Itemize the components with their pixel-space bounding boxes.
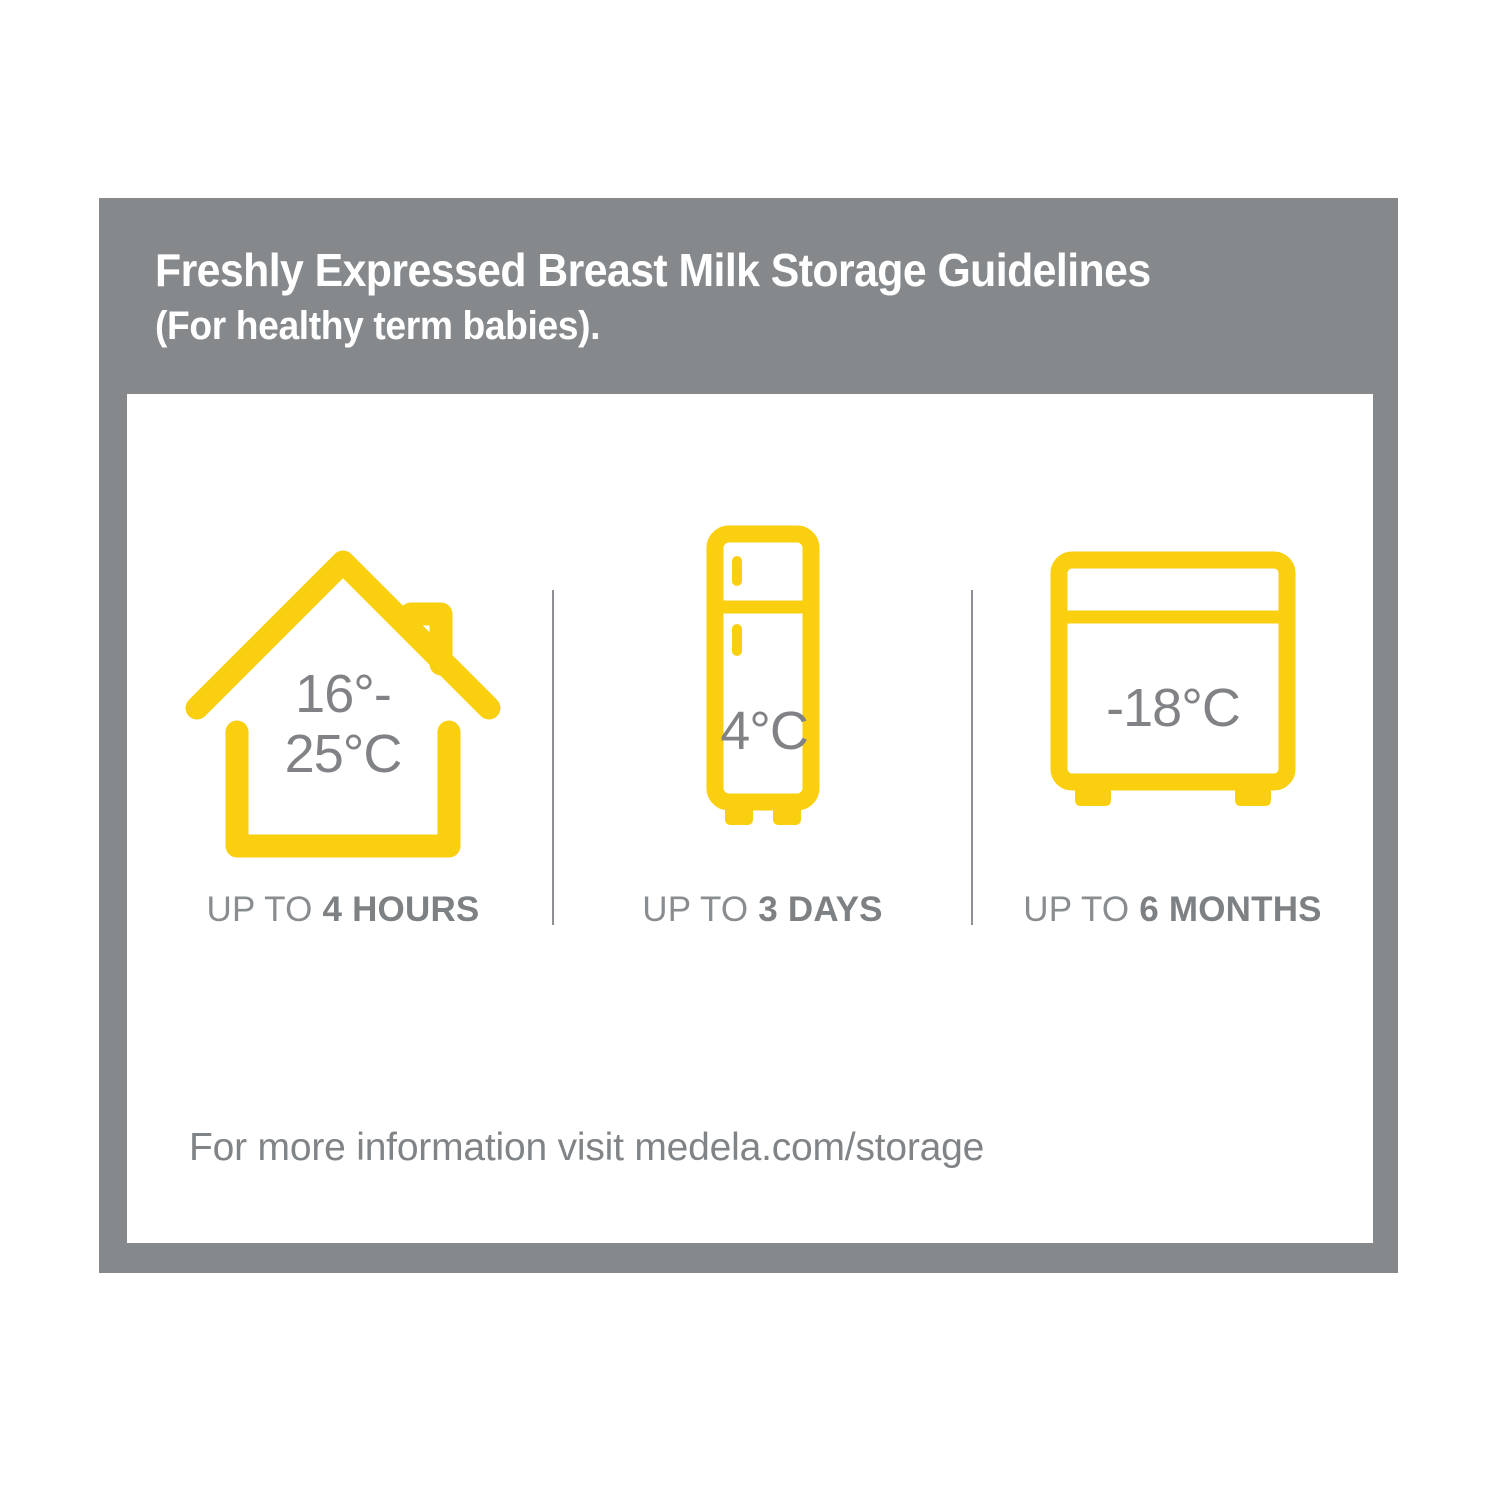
header: Freshly Expressed Breast Milk Storage Gu… bbox=[155, 246, 1375, 350]
page-title: Freshly Expressed Breast Milk Storage Gu… bbox=[155, 246, 1290, 296]
infographic-page: Freshly Expressed Breast Milk Storage Gu… bbox=[0, 0, 1500, 1500]
storage-column-refrigerator: 4°C UP TO 3 DAYS bbox=[553, 394, 972, 994]
caption-value: 6 MONTHS bbox=[1139, 890, 1321, 929]
freezer-temperature: -18°C bbox=[1106, 678, 1240, 738]
caption-refrigerator: UP TO 3 DAYS bbox=[553, 890, 972, 930]
storage-column-room-temperature: 16°- 25°C UP TO 4 HOURS bbox=[133, 394, 553, 994]
storage-guidelines-card: Freshly Expressed Breast Milk Storage Gu… bbox=[99, 198, 1398, 1273]
caption-value: 4 HOURS bbox=[322, 890, 479, 929]
refrigerator-temperature: 4°C bbox=[720, 701, 808, 761]
caption-room-temperature: UP TO 4 HOURS bbox=[133, 890, 553, 930]
freezer-icon: -18°C bbox=[1013, 494, 1333, 774]
page-subtitle: (For healthy term babies). bbox=[155, 302, 1290, 350]
house-temperature-line1: 16°- bbox=[295, 664, 391, 724]
caption-value: 3 DAYS bbox=[758, 890, 882, 929]
content-panel: 16°- 25°C UP TO 4 HOURS bbox=[127, 394, 1373, 1243]
caption-prefix: UP TO bbox=[1023, 890, 1139, 929]
house-temperature-line2: 25°C bbox=[285, 724, 402, 784]
house-icon-wrapper: 16°- 25°C bbox=[133, 394, 553, 874]
refrigerator-icon: 4°C bbox=[603, 494, 923, 774]
footer-text: For more information visit medela.com/st… bbox=[189, 1126, 984, 1170]
storage-column-freezer: -18°C UP TO 6 MONTHS bbox=[972, 394, 1373, 994]
house-icon: 16°- 25°C bbox=[183, 494, 503, 774]
caption-freezer: UP TO 6 MONTHS bbox=[972, 890, 1373, 930]
caption-prefix: UP TO bbox=[642, 890, 758, 929]
storage-columns: 16°- 25°C UP TO 4 HOURS bbox=[127, 394, 1373, 994]
refrigerator-icon-wrapper: 4°C bbox=[553, 394, 972, 874]
caption-prefix: UP TO bbox=[207, 890, 323, 929]
freezer-icon-wrapper: -18°C bbox=[972, 394, 1373, 874]
